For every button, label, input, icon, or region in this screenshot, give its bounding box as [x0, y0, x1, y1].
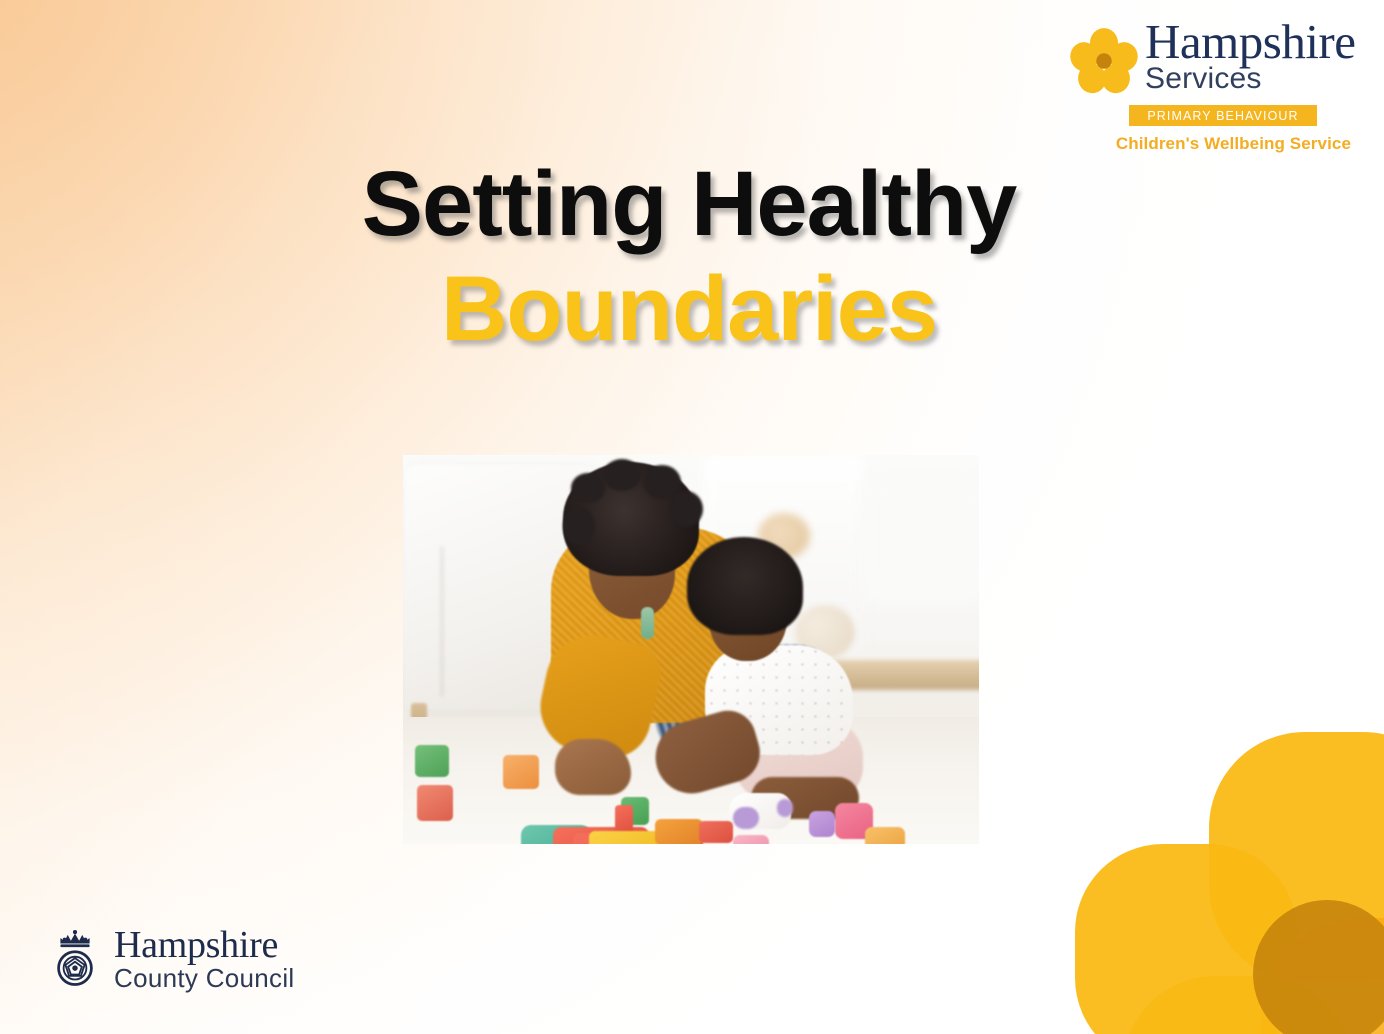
primary-behaviour-label: PRIMARY BEHAVIOUR	[1147, 109, 1298, 123]
hampshire-services-logo: Hampshire Services PRIMARY BEHAVIOUR Chi…	[1069, 18, 1351, 158]
photo-scene	[403, 455, 979, 844]
photo-toy-piece	[655, 819, 703, 844]
crown-rose-emblem-icon	[52, 928, 98, 990]
council-logo-subtitle: County Council	[114, 965, 295, 991]
photo-wall-panel-secondary	[863, 485, 979, 605]
photo-toy-block	[417, 785, 453, 821]
photo-toy-piece	[809, 811, 835, 837]
slide-canvas: Hampshire Services PRIMARY BEHAVIOUR Chi…	[0, 0, 1384, 1034]
photo-hair-lock	[603, 459, 641, 491]
council-logo-name: Hampshire	[114, 926, 295, 964]
services-logo-name: Hampshire	[1145, 18, 1356, 66]
photo-mother-necklace	[641, 607, 654, 639]
slide-title: Setting Healthy Boundaries	[0, 152, 1384, 362]
photo-hair-lock	[571, 473, 605, 503]
hampshire-services-wordmark: Hampshire Services	[1145, 18, 1356, 94]
photo-toy-block	[415, 745, 449, 777]
photo-mother-hand	[555, 739, 631, 795]
hampshire-services-logo-top: Hampshire Services	[1069, 18, 1351, 98]
photo-child-sock-band	[733, 807, 759, 829]
photo-hair-lock	[563, 507, 595, 545]
photo-hair-lock	[669, 491, 703, 527]
photo-toy-piece	[733, 835, 769, 844]
childrens-wellbeing-service-label: Children's Wellbeing Service	[1069, 134, 1351, 154]
hampshire-county-council-logo: Hampshire County Council	[52, 926, 295, 991]
photo-toy-piece	[699, 821, 733, 843]
photo-child-sock-band-secondary	[777, 799, 793, 817]
photo-toy-block	[503, 755, 539, 789]
council-wordmark: Hampshire County Council	[114, 926, 295, 991]
title-line-one: Setting Healthy	[0, 152, 1384, 257]
primary-behaviour-banner: PRIMARY BEHAVIOUR	[1129, 105, 1317, 126]
hampshire-flower-icon	[1069, 24, 1139, 98]
large-flower-decoration-icon	[1065, 722, 1384, 1034]
photo-toy-piece	[865, 827, 905, 844]
photo-child-hair	[687, 537, 803, 635]
mother-and-child-photo	[403, 455, 979, 844]
photo-sofa-seam	[441, 547, 443, 697]
title-line-two: Boundaries	[0, 257, 1384, 362]
